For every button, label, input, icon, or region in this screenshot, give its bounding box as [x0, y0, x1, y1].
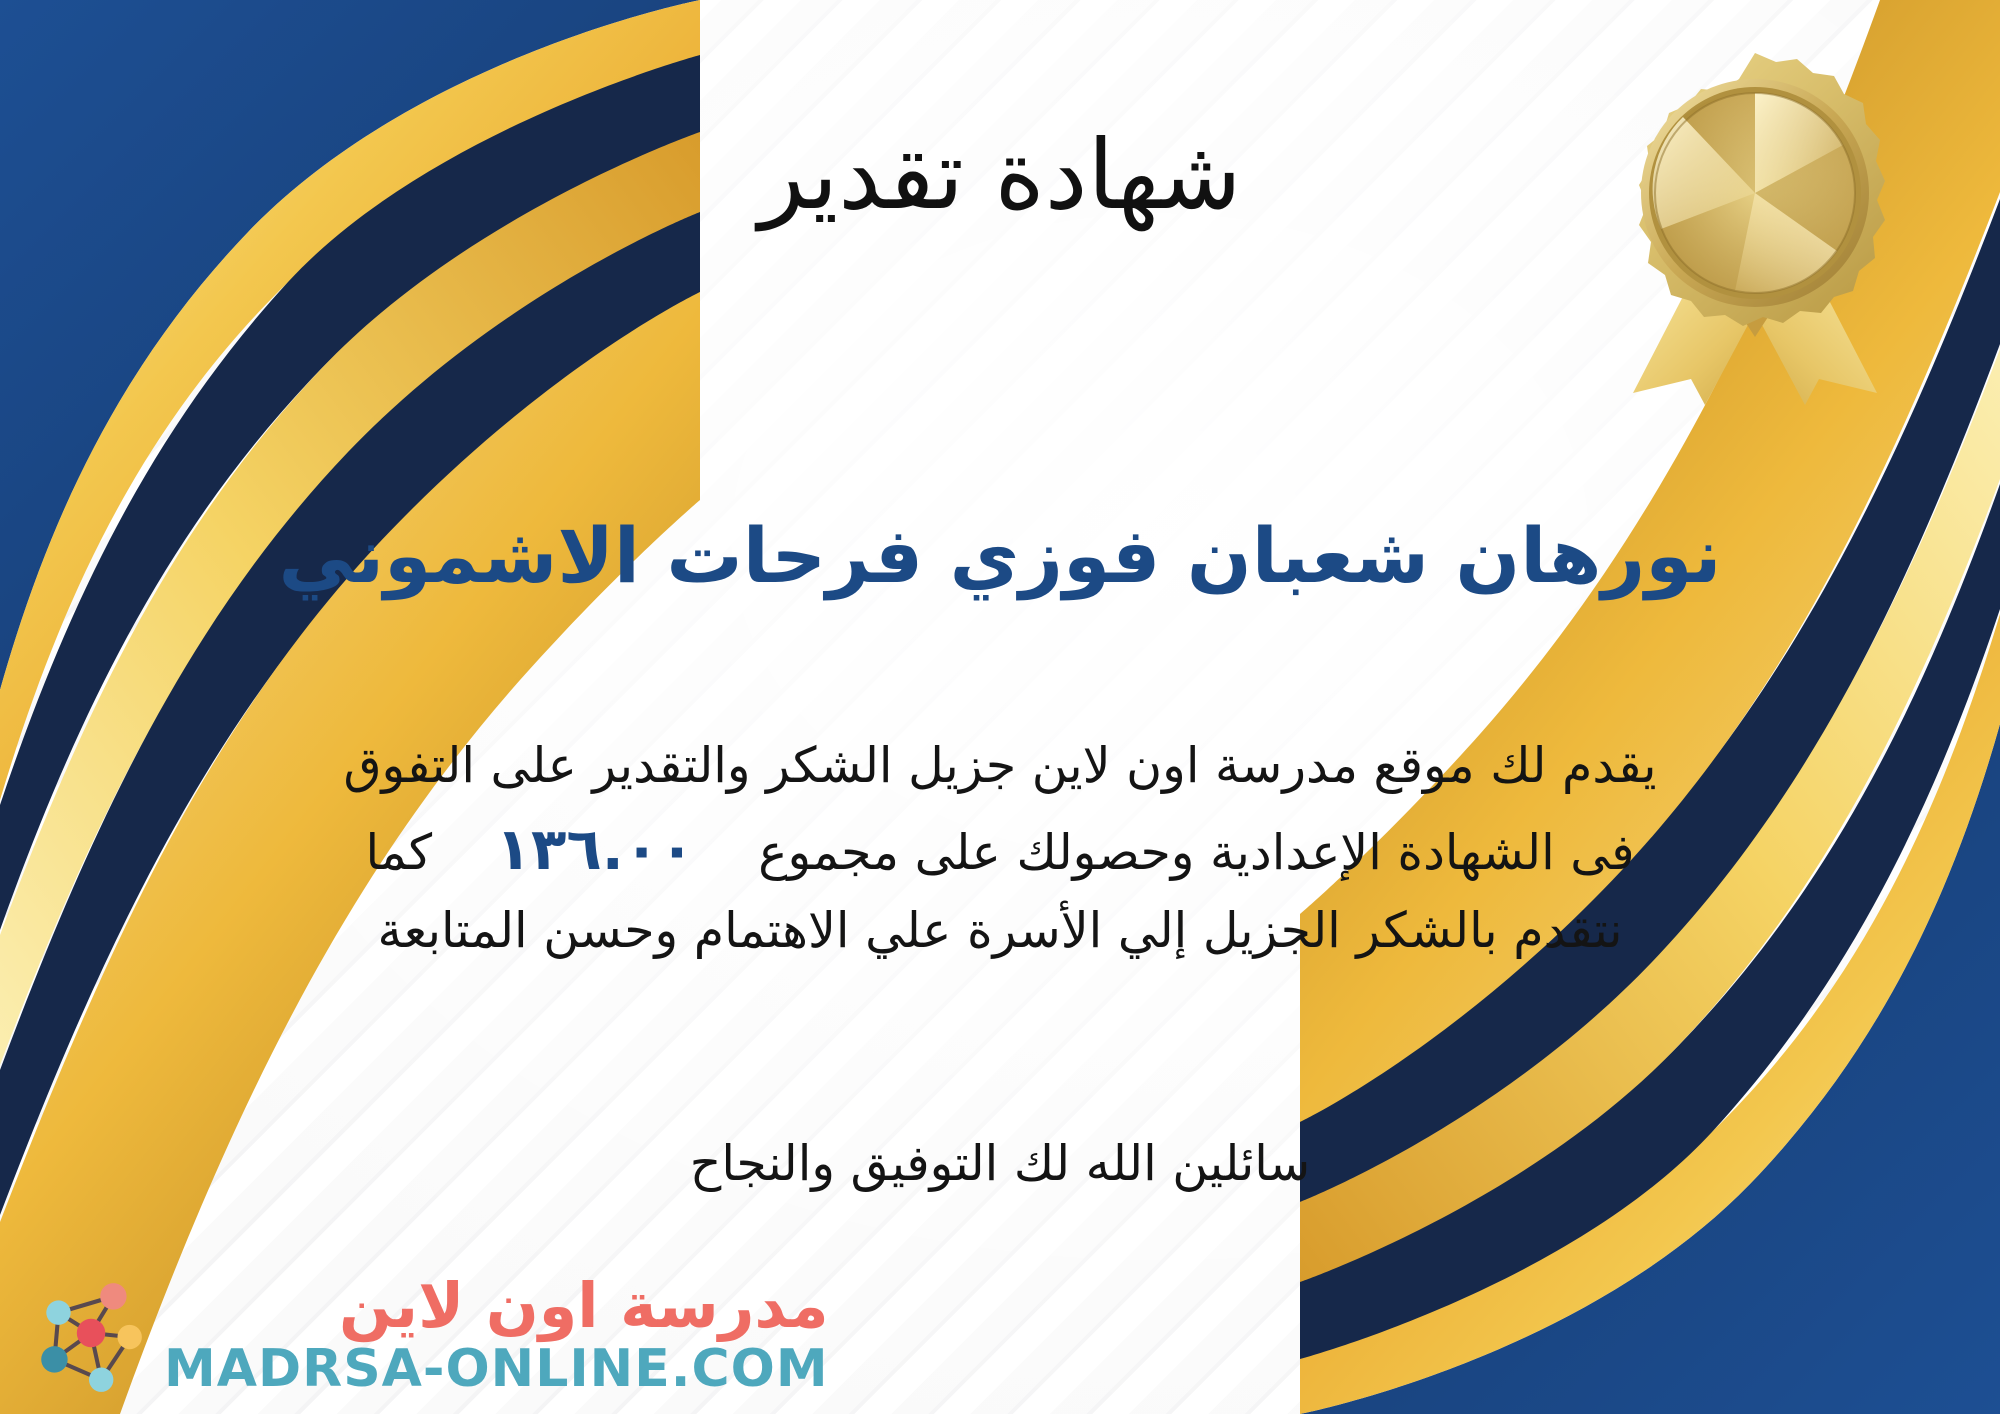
logo-text-group: مدرسة اون لاين MADRSA-ONLINE.COM [164, 1275, 829, 1395]
site-logo[interactable]: مدرسة اون لاين MADRSA-ONLINE.COM [28, 1274, 829, 1396]
logo-arabic-name: مدرسة اون لاين [339, 1275, 829, 1337]
certificate-content: شهادة تقدير نورهان شعبان فوزي فرحات الاش… [0, 0, 2000, 1414]
body-line-2: فى الشهادة الإعدادية وحصولك على مجموع ١٣… [60, 812, 1940, 886]
body-line-2-left: كما [365, 824, 432, 881]
total-score-value: ١٣٦.٠٠ [448, 815, 743, 883]
recipient-name: نورهان شعبان فوزي فرحات الاشموني [120, 510, 1880, 601]
closing-wish-text: سائلين الله لك التوفيق والنجاح [0, 1135, 2000, 1192]
body-line-1: يقدم لك موقع مدرسة اون لاين جزيل الشكر و… [60, 735, 1940, 798]
certificate-page: شهادة تقدير نورهان شعبان فوزي فرحات الاش… [0, 0, 2000, 1414]
body-line-2-right: فى الشهادة الإعدادية وحصولك على مجموع [758, 824, 1634, 881]
certificate-body-text: يقدم لك موقع مدرسة اون لاين جزيل الشكر و… [60, 735, 1940, 977]
body-line-3: نتقدم بالشكر الجزيل إلي الأسرة علي الاهت… [60, 900, 1940, 963]
page-title: شهادة تقدير [0, 120, 2000, 230]
logo-website-url: MADRSA-ONLINE.COM [164, 1343, 829, 1395]
network-nodes-icon [28, 1274, 150, 1396]
